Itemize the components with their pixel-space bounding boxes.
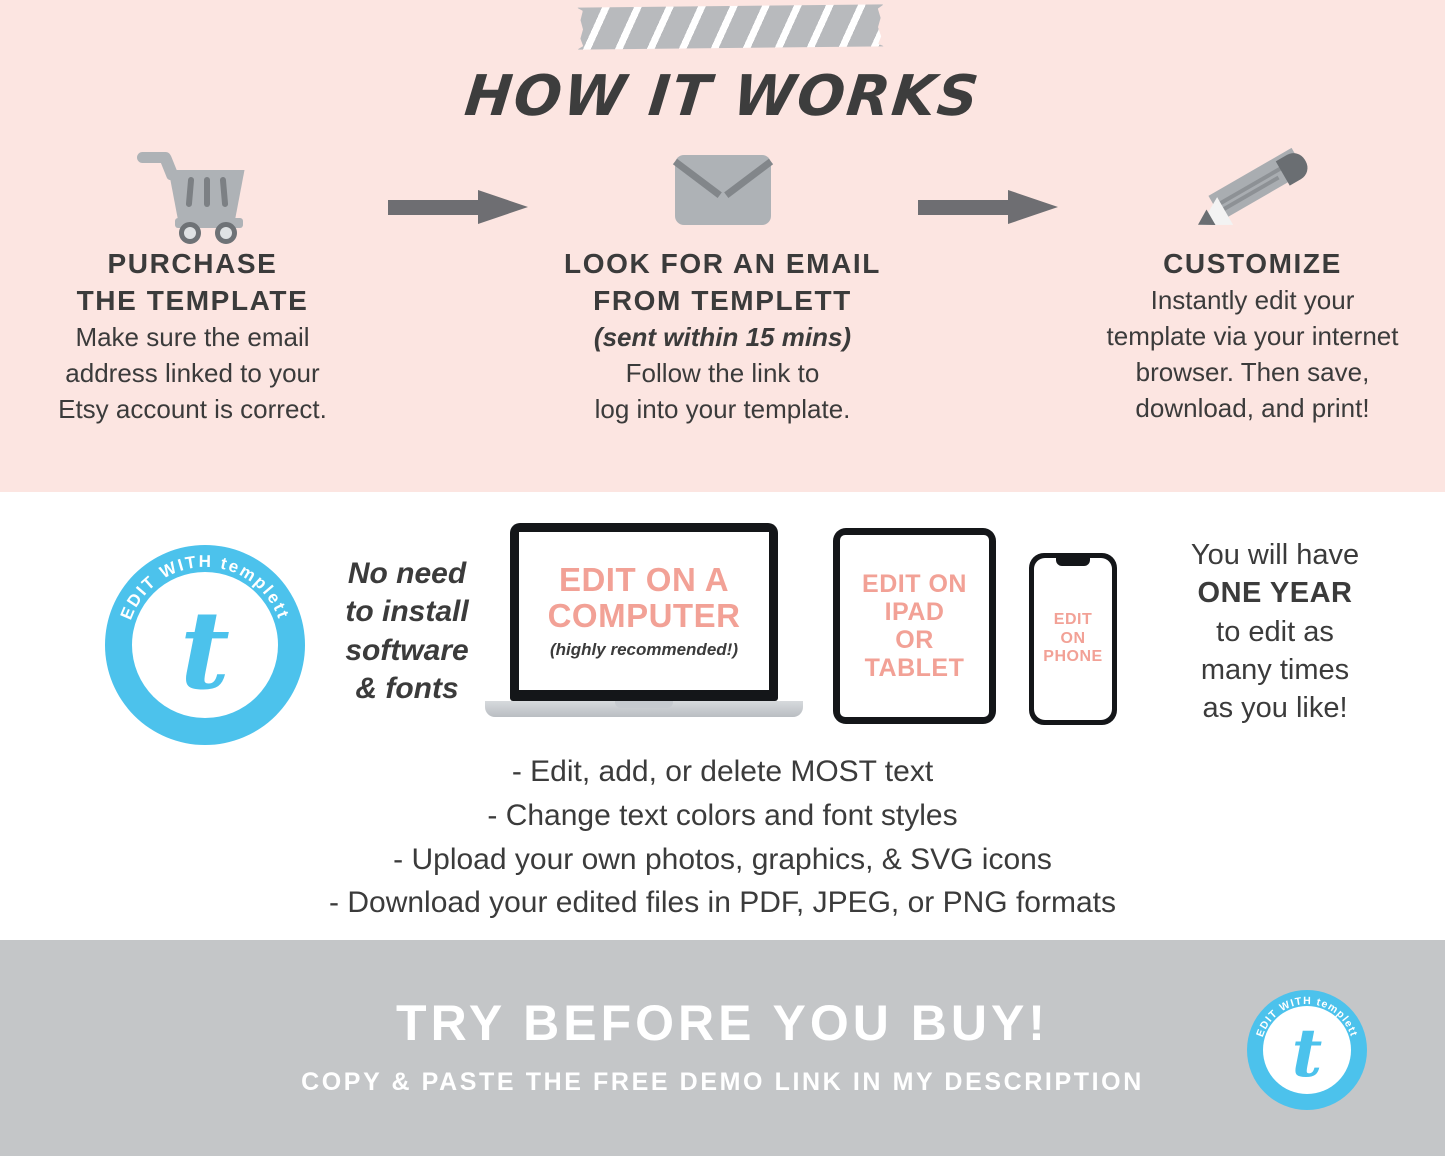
step-look-for-email: LOOK FOR AN EMAIL FROM TEMPLETT (sent wi… [533,138,913,428]
step-italic-note: (sent within 15 mins) [594,320,851,356]
envelope-icon [675,138,771,242]
no-need-to-install-text: No need to install software & fonts [332,555,482,709]
step-purchase: PURCHASE THE TEMPLATE Make sure the emai… [3,138,383,428]
step-body: Follow the link to log into your templat… [595,356,851,428]
arrow-right-icon-2 [913,138,1063,224]
laptop-trackpad-notch [615,701,673,708]
step-heading: LOOK FOR AN EMAIL FROM TEMPLETT [564,246,881,320]
steps-section: HOW IT WORKS [0,0,1445,492]
step-body: Make sure the email address linked to yo… [58,320,327,428]
badge-letter-t: t [1247,1020,1367,1086]
list-item: - Change text colors and font styles [0,794,1445,838]
banner-subline: COPY & PASTE THE FREE DEMO LINK IN MY DE… [0,1068,1445,1097]
step-heading: CUSTOMIZE [1163,246,1342,283]
page-title: HOW IT WORKS [0,64,1445,129]
one-year-text: You will have ONE YEAR to edit as many t… [1125,536,1425,727]
banner-headline: TRY BEFORE YOU BUY! [0,994,1445,1052]
phone-screen-text: EDIT ON PHONE [1043,611,1102,666]
laptop-device: EDIT ON A COMPUTER (highly recommended!) [485,523,803,728]
step-customize: CUSTOMIZE Instantly edit your template v… [1063,138,1443,426]
list-item: - Upload your own photos, graphics, & SV… [0,838,1445,882]
templett-badge-large: EDIT WITH templett EDITABLE TEMPLATE t [105,545,305,745]
laptop-lid: EDIT ON A COMPUTER (highly recommended!) [510,523,778,701]
list-item: - Download your edited files in PDF, JPE… [0,881,1445,925]
feature-bullet-list: - Edit, add, or delete MOST text - Chang… [0,750,1445,925]
shopping-cart-icon [137,138,249,242]
steps-row: PURCHASE THE TEMPLATE Make sure the emai… [0,138,1445,468]
tablet-screen-text: EDIT ON IPAD OR TABLET [862,570,967,682]
phone-notch [1056,558,1090,566]
templett-badge-small: EDIT WITH templett EDITABLE TEMPLATE t [1247,990,1367,1110]
badge-letter-t: t [105,597,305,705]
laptop-screen: EDIT ON A COMPUTER (highly recommended!) [519,532,769,690]
washi-tape-decoration [578,4,883,49]
laptop-screen-text: EDIT ON A COMPUTER [548,562,741,633]
step-body: Instantly edit your template via your in… [1107,283,1399,427]
pencil-icon [1193,138,1313,242]
laptop-screen-note: (highly recommended!) [550,640,738,660]
tablet-screen: EDIT ON IPAD OR TABLET [840,535,989,717]
list-item: - Edit, add, or delete MOST text [0,750,1445,794]
arrow-right-icon-1 [383,138,533,224]
how-it-works-infographic: HOW IT WORKS [0,0,1445,1156]
tablet-device: EDIT ON IPAD OR TABLET [833,528,996,724]
step-heading: PURCHASE THE TEMPLATE [77,246,309,320]
try-before-you-buy-banner: TRY BEFORE YOU BUY! COPY & PASTE THE FRE… [0,940,1445,1156]
phone-screen: EDIT ON PHONE [1034,558,1112,720]
phone-device: EDIT ON PHONE [1029,553,1117,725]
one-year-highlight: ONE YEAR [1198,577,1353,609]
